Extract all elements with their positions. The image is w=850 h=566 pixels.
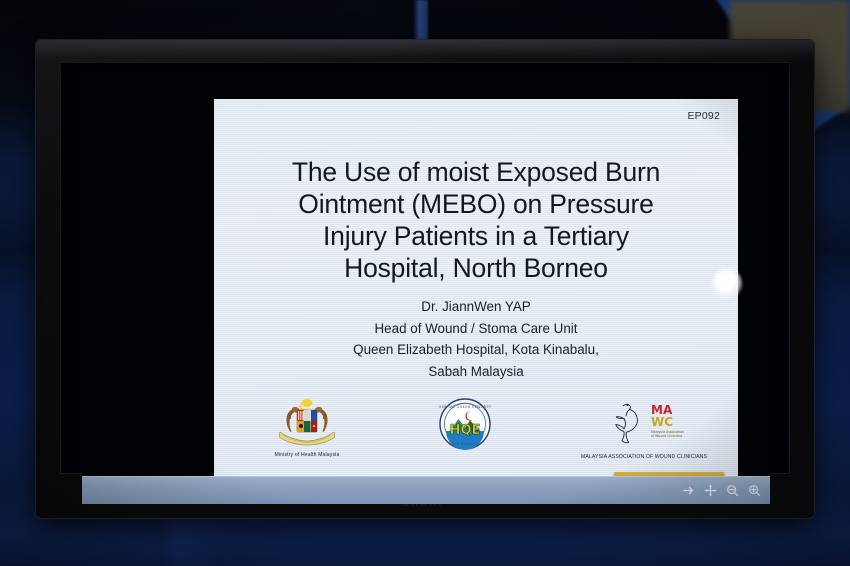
photo-scene: SHARP EP092 The Use of moist Exposed Bur… xyxy=(0,0,850,566)
svg-text:HQE: HQE xyxy=(450,423,481,438)
author-institution: Queen Elizabeth Hospital, Kota Kinabalu, xyxy=(232,339,720,361)
pan-move-icon[interactable] xyxy=(704,484,717,497)
malaysia-coat-of-arms-icon xyxy=(270,396,344,446)
malaysia-association-of-wound-clinicians-logo: MA WC Malaysia Association of Wound Clin… xyxy=(564,400,724,460)
slide-title: The Use of moist Exposed Burn Ointment (… xyxy=(232,156,720,284)
next-arrow-icon[interactable] xyxy=(682,484,695,497)
monitor-screen: EP092 The Use of moist Exposed Burn Oint… xyxy=(82,70,770,504)
queen-elizabeth-hospital-logo: HQE HOSPITAL QUEEN ELIZABETH KOTA KINABA… xyxy=(420,398,510,456)
slide-title-line-2: Ointment (MEBO) on Pressure xyxy=(232,188,720,220)
svg-text:of Wound Clinicians: of Wound Clinicians xyxy=(651,434,683,438)
mawc-dove-icon: MA WC Malaysia Association of Wound Clin… xyxy=(601,400,687,448)
hospital-queen-elizabeth-emblem-icon: HQE HOSPITAL QUEEN ELIZABETH KOTA KINABA… xyxy=(439,398,491,450)
slide-logo-row: Ministry of Health Malaysia HQE xyxy=(214,392,738,478)
poster-code-label: EP092 xyxy=(687,110,720,122)
zoom-in-icon[interactable] xyxy=(748,484,761,497)
author-role: Head of Wound / Stoma Care Unit xyxy=(232,318,720,340)
slide-title-line-3: Injury Patients in a Tertiary xyxy=(232,220,720,252)
slide-title-line-1: The Use of moist Exposed Burn xyxy=(232,156,720,188)
viewer-toolbar xyxy=(82,476,770,504)
svg-text:HOSPITAL QUEEN ELIZABETH: HOSPITAL QUEEN ELIZABETH xyxy=(439,405,491,409)
malaysia-association-of-wound-clinicians-caption: MALAYSIA ASSOCIATION OF WOUND CLINICIANS xyxy=(564,454,724,460)
svg-text:WC: WC xyxy=(651,415,673,429)
presentation-slide[interactable]: EP092 The Use of moist Exposed Burn Oint… xyxy=(214,99,738,484)
author-location: Sabah Malaysia xyxy=(232,361,720,383)
slide-title-line-4: Hospital, North Borneo xyxy=(232,252,720,284)
viewer-tool-group xyxy=(682,476,761,504)
slide-author-block: Dr. JiannWen YAP Head of Wound / Stoma C… xyxy=(232,296,720,382)
monitor-bezel: SHARP EP092 The Use of moist Exposed Bur… xyxy=(36,40,814,518)
ministry-of-health-malaysia-logo: Ministry of Health Malaysia xyxy=(242,396,372,458)
svg-text:KOTA KINABALU: KOTA KINABALU xyxy=(449,442,481,446)
author-name: Dr. JiannWen YAP xyxy=(232,296,720,318)
ministry-of-health-malaysia-caption: Ministry of Health Malaysia xyxy=(242,452,372,458)
zoom-out-icon[interactable] xyxy=(726,484,739,497)
